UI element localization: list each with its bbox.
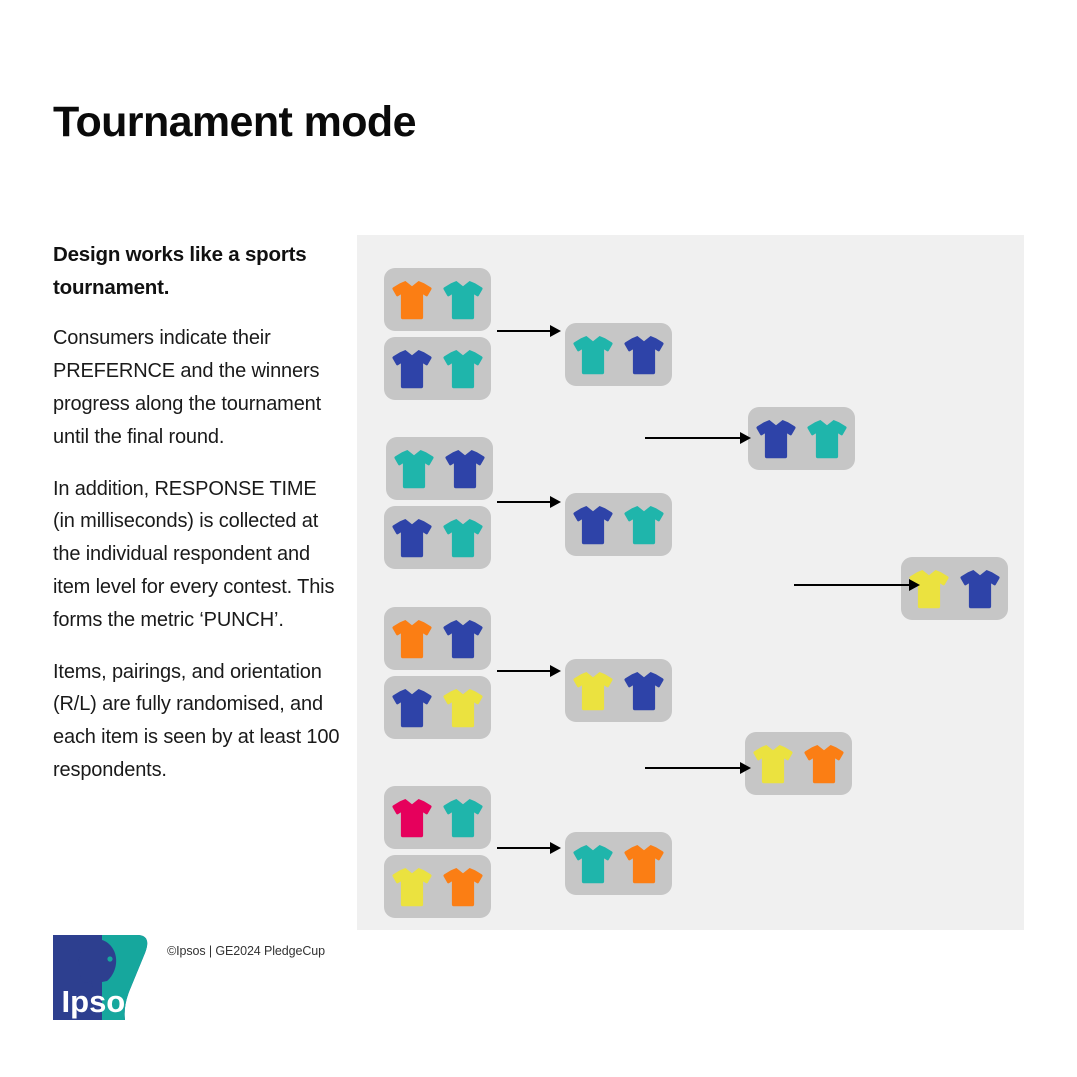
progression-arrow-7 (794, 584, 909, 586)
tshirt-icon-r2-m1-left[interactable] (573, 334, 613, 376)
tshirt-icon-r4-m1-right[interactable] (960, 568, 1000, 610)
tshirt-icon-r2-m1-right[interactable] (624, 334, 664, 376)
text-column: Design works like a sports tournament. C… (53, 238, 343, 806)
body-paragraph-3: Items, pairings, and orientation (R/L) a… (53, 656, 343, 787)
tshirt-icon-r1-m2-right[interactable] (443, 348, 483, 390)
tshirt-icon-r1-m7-right[interactable] (443, 797, 483, 839)
page-title: Tournament mode (53, 99, 416, 146)
match-card-r1-m7[interactable] (384, 786, 491, 849)
tshirt-icon-r1-m3-right[interactable] (445, 448, 485, 490)
tshirt-icon-r1-m6-left[interactable] (392, 687, 432, 729)
tshirt-icon-r1-m5-right[interactable] (443, 618, 483, 660)
progression-arrow-2-head (550, 496, 561, 508)
match-card-r1-m6[interactable] (384, 676, 491, 739)
progression-arrow-3 (497, 670, 550, 672)
match-card-r1-m1[interactable] (384, 268, 491, 331)
tshirt-icon-r2-m2-right[interactable] (624, 504, 664, 546)
tshirt-icon-r2-m3-left[interactable] (573, 670, 613, 712)
match-card-r1-m8[interactable] (384, 855, 491, 918)
body-paragraph-2: In addition, RESPONSE TIME (in milliseco… (53, 473, 343, 637)
progression-arrow-4-head (550, 842, 561, 854)
match-card-r3-m2[interactable] (745, 732, 852, 795)
progression-arrow-7-head (909, 579, 920, 591)
tshirt-icon-r3-m1-right[interactable] (807, 418, 847, 460)
tshirt-icon-r3-m2-left[interactable] (753, 743, 793, 785)
tshirt-icon-r3-m2-right[interactable] (804, 743, 844, 785)
match-card-r2-m2[interactable] (565, 493, 672, 556)
progression-arrow-5 (645, 437, 740, 439)
progression-arrow-6 (645, 767, 740, 769)
tshirt-icon-r1-m7-left[interactable] (392, 797, 432, 839)
tshirt-icon-r1-m4-left[interactable] (392, 517, 432, 559)
footer: Ipsos ©Ipsos | GE2024 PledgeCup (53, 935, 325, 1020)
progression-arrow-1 (497, 330, 550, 332)
ipsos-logo: Ipsos (53, 935, 152, 1020)
match-card-r1-m2[interactable] (384, 337, 491, 400)
tshirt-icon-r1-m1-right[interactable] (443, 279, 483, 321)
match-card-r2-m4[interactable] (565, 832, 672, 895)
match-card-r1-m3[interactable] (386, 437, 493, 500)
tshirt-icon-r2-m2-left[interactable] (573, 504, 613, 546)
match-card-r1-m5[interactable] (384, 607, 491, 670)
tshirt-icon-r1-m6-right[interactable] (443, 687, 483, 729)
progression-arrow-4 (497, 847, 550, 849)
match-card-r3-m1[interactable] (748, 407, 855, 470)
progression-arrow-2 (497, 501, 550, 503)
tshirt-icon-r2-m3-right[interactable] (624, 670, 664, 712)
match-card-r2-m3[interactable] (565, 659, 672, 722)
body-paragraph-1: Consumers indicate their PREFERNCE and t… (53, 322, 343, 453)
tournament-bracket-panel (357, 235, 1024, 930)
tshirt-icon-r1-m1-left[interactable] (392, 279, 432, 321)
progression-arrow-3-head (550, 665, 561, 677)
progression-arrow-1-head (550, 325, 561, 337)
tshirt-icon-r1-m2-left[interactable] (392, 348, 432, 390)
progression-arrow-5-head (740, 432, 751, 444)
tshirt-icon-r1-m3-left[interactable] (394, 448, 434, 490)
tshirt-icon-r1-m8-left[interactable] (392, 866, 432, 908)
tshirt-icon-r1-m8-right[interactable] (443, 866, 483, 908)
svg-text:Ipsos: Ipsos (62, 984, 143, 1019)
tshirt-icon-r1-m4-right[interactable] (443, 517, 483, 559)
tshirt-icon-r1-m5-left[interactable] (392, 618, 432, 660)
lead-paragraph: Design works like a sports tournament. (53, 238, 343, 304)
progression-arrow-6-head (740, 762, 751, 774)
tshirt-icon-r2-m4-right[interactable] (624, 843, 664, 885)
match-card-r1-m4[interactable] (384, 506, 491, 569)
tshirt-icon-r2-m4-left[interactable] (573, 843, 613, 885)
tshirt-icon-r3-m1-left[interactable] (756, 418, 796, 460)
match-card-r2-m1[interactable] (565, 323, 672, 386)
copyright-text: ©Ipsos | GE2024 PledgeCup (167, 944, 325, 958)
